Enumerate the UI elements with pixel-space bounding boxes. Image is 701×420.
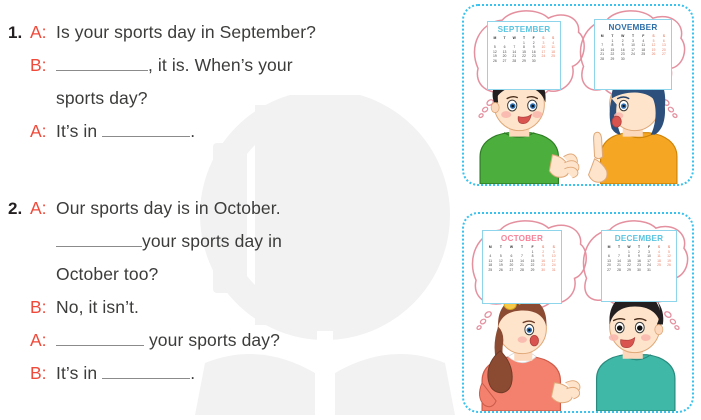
exercise-number: 2.	[0, 199, 30, 219]
calendar-grid: MTWTFSS .123456 78910111213 141516171819…	[597, 34, 669, 62]
illustration-panel-october-december: OCTOBER MTWTFSS ....123 45678910 1112131…	[462, 212, 694, 413]
dialogue-text: No, it isn’t.	[56, 297, 139, 318]
calendar-december: DECEMBER MTWTFSS ..12345 6789101112 1314…	[601, 230, 677, 302]
number-spacer: .	[0, 265, 30, 285]
speaker-label: A:	[30, 198, 56, 219]
number-spacer: .	[0, 122, 30, 142]
speaker-spacer: A:	[30, 88, 56, 109]
number-spacer: .	[0, 56, 30, 76]
calendar-month-title: SEPTEMBER	[490, 24, 558, 35]
illustration-panel-september-november: SEPTEMBER MTWTFSS ...1234 567891011 1213…	[462, 4, 694, 186]
dialogue-line: . B: No, it isn’t.	[0, 297, 455, 330]
dialogue-text: It’s in	[56, 363, 102, 384]
dialogue-punctuation: .	[190, 363, 195, 384]
number-spacer: .	[0, 89, 30, 109]
calendar-october: OCTOBER MTWTFSS ....123 45678910 1112131…	[482, 230, 562, 304]
calendar-month-title: OCTOBER	[485, 233, 559, 244]
dialogue-text: your sports day in	[142, 231, 282, 252]
speaker-label: A:	[30, 22, 56, 43]
calendar-month-title: DECEMBER	[604, 233, 674, 244]
dialogue-line: 2. A: Our sports day is in October.	[0, 198, 455, 231]
number-spacer: .	[0, 331, 30, 351]
number-spacer: .	[0, 298, 30, 318]
speaker-label: A:	[30, 121, 56, 142]
calendar-grid: MTWTFSS ...1234 567891011 12131415161718…	[490, 36, 558, 64]
answer-blank[interactable]	[102, 365, 190, 379]
exercise-list: 1. A: Is your sports day in September? .…	[0, 0, 455, 417]
dialogue-line: . B: , it is. When’s your	[0, 55, 455, 88]
calendar-november: NOVEMBER MTWTFSS .123456 78910111213 141…	[594, 19, 672, 90]
worksheet-page: 1. A: Is your sports day in September? .…	[0, 0, 701, 417]
dialogue-punctuation: .	[190, 121, 195, 142]
dialogue-line: . A: It’s in .	[0, 121, 455, 154]
dialogue-line: 1. A: Is your sports day in September?	[0, 22, 455, 55]
number-spacer: .	[0, 364, 30, 384]
dialogue-text: your sports day?	[144, 330, 280, 351]
answer-blank[interactable]	[102, 123, 190, 137]
exercise-number: 1.	[0, 23, 30, 43]
dialogue-line: . A: sports day?	[0, 88, 455, 121]
answer-blank[interactable]	[56, 233, 142, 247]
dialogue-text: sports day?	[56, 88, 148, 109]
speaker-label: A:	[30, 330, 56, 351]
exercise-item-1: 1. A: Is your sports day in September? .…	[0, 22, 455, 154]
dialogue-text: Is your sports day in September?	[56, 22, 316, 43]
calendar-month-title: NOVEMBER	[597, 22, 669, 33]
speaker-label: B:	[30, 363, 56, 384]
answer-blank[interactable]	[56, 57, 148, 71]
speaker-label: B:	[30, 297, 56, 318]
dialogue-line: . A: your sports day in	[0, 231, 455, 264]
speaker-spacer: A:	[30, 231, 56, 252]
calendar-september: SEPTEMBER MTWTFSS ...1234 567891011 1213…	[487, 21, 561, 90]
speaker-spacer: A:	[30, 264, 56, 285]
dialogue-text: It’s in	[56, 121, 102, 142]
dialogue-text: , it is. When’s your	[148, 55, 293, 76]
speaker-label: B:	[30, 55, 56, 76]
dialogue-text: October too?	[56, 264, 158, 285]
calendar-grid: MTWTFSS ....123 45678910 11121314151617 …	[485, 245, 559, 273]
illustration-column: SEPTEMBER MTWTFSS ...1234 567891011 1213…	[455, 0, 701, 417]
dialogue-line: . A: October too?	[0, 264, 455, 297]
dialogue-line: . B: It’s in .	[0, 363, 455, 396]
calendar-grid: MTWTFSS ..12345 6789101112 1314151617181…	[604, 245, 674, 273]
dialogue-text: Our sports day is in October.	[56, 198, 281, 219]
number-spacer: .	[0, 232, 30, 252]
exercise-item-2: 2. A: Our sports day is in October. . A:…	[0, 198, 455, 396]
answer-blank[interactable]	[56, 332, 144, 346]
dialogue-line: . A: your sports day?	[0, 330, 455, 363]
